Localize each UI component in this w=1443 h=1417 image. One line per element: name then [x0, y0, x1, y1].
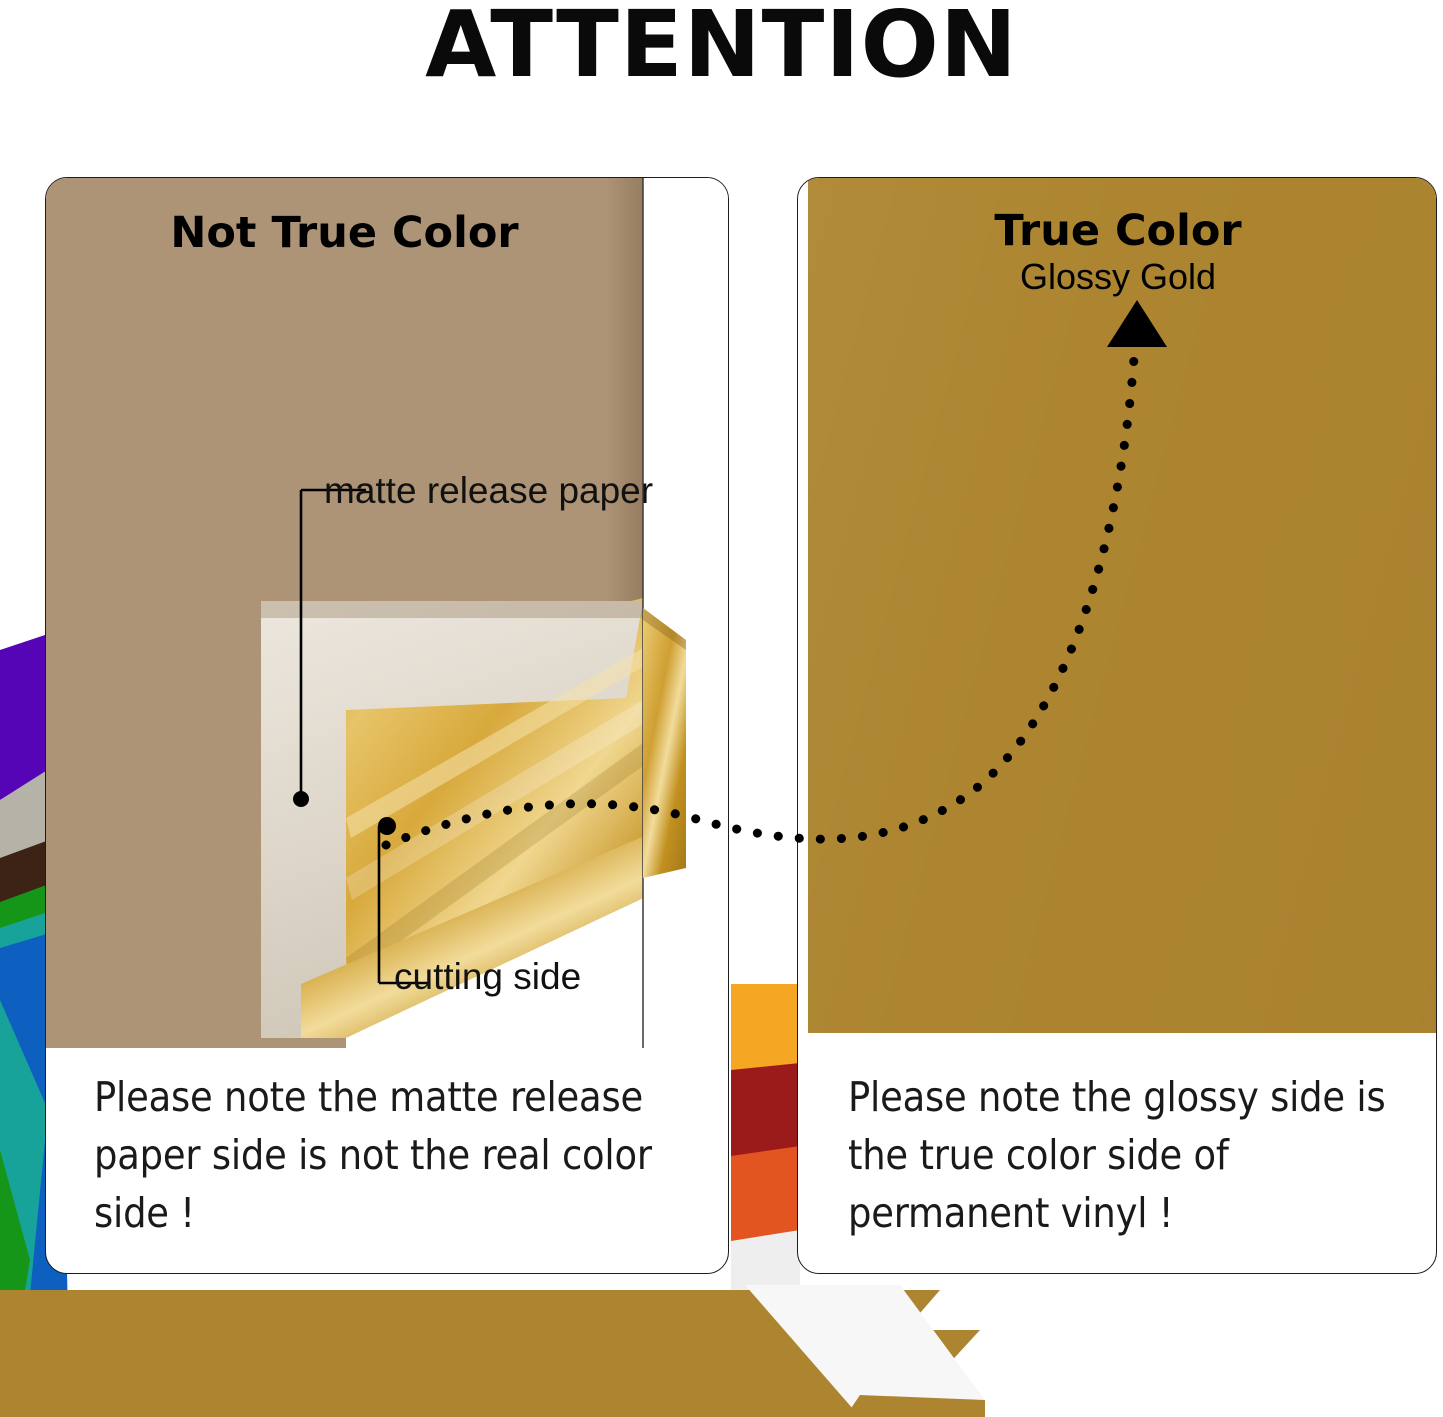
- annotation-cutting-side: cutting side: [394, 956, 581, 998]
- card-not-true-color: Not True Color matte release paper cutti…: [45, 177, 729, 1274]
- matte-release-paper-anchor-dot: [293, 791, 309, 807]
- matte-peel-edge-shadow: [261, 601, 643, 618]
- dark-red-strip: [731, 1063, 800, 1158]
- gold-tip-overlay: [643, 608, 686, 878]
- annotation-matte-release-paper: matte release paper: [324, 470, 653, 512]
- amber-strip: [731, 984, 800, 1072]
- card-white-right: [643, 178, 728, 1048]
- card-true-color: True Color Glossy Gold Please note the g…: [797, 177, 1437, 1274]
- matte-swatch-photo: Not True Color matte release paper cutti…: [46, 178, 728, 1048]
- label-true-color: True Color: [798, 206, 1436, 256]
- label-glossy-gold: Glossy Gold: [798, 256, 1436, 298]
- gold-swatch-photo: True Color Glossy Gold: [798, 178, 1436, 1048]
- caption-true-color: Please note the glossy side is the true …: [848, 1068, 1408, 1243]
- caption-not-true-color: Please note the matte release paper side…: [94, 1068, 694, 1243]
- peeled-corner-illustration: [46, 178, 728, 1048]
- cutting-side-anchor-dot: [378, 817, 396, 835]
- orange-red-strip: [731, 1146, 800, 1243]
- glossy-gold-sheen: [808, 178, 1436, 1033]
- infographic-root: ATTENTION: [0, 0, 1443, 1417]
- label-not-true-color: Not True Color: [46, 208, 643, 258]
